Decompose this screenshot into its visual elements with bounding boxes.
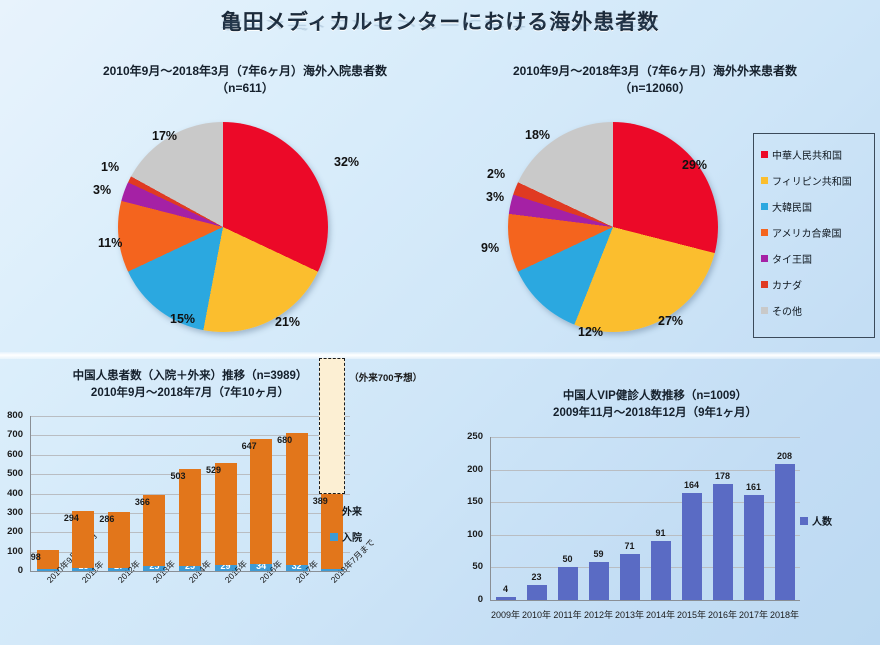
pie-slice-label-5: 1% [101,160,119,174]
pie-slice-label-2: 12% [578,325,603,339]
pie-slice-label-4: 3% [93,183,111,197]
bar-人数-2[interactable] [558,567,578,600]
bar-value-label: 366 [116,497,168,507]
bar-人数-4[interactable] [620,554,640,600]
forecast-box [319,358,345,494]
legend-item-label: タイ王国 [772,251,812,266]
y-axis-tick: 300 [0,507,23,518]
x-axis-tick-label: 2011年 [552,608,583,621]
x-axis-tick-label: 2009年 [490,608,521,621]
vip-checkup-title: 中国人VIP健診人数推移（n=1009） 2009年11月～2018年12月（9… [490,388,820,422]
legend-item-4[interactable]: タイ王国 [761,245,870,271]
bar-人数-9[interactable] [775,464,795,600]
bar-人数-8[interactable] [744,495,764,600]
bar-value-label: 680 [259,435,311,445]
y-axis-tick: 200 [455,464,483,475]
inpatient-pie-title: 2010年9月～2018年3月（7年6ヶ月）海外入院患者数 （n=611） [45,63,445,97]
legend-item-label: 中華人民共和国 [772,147,842,162]
bar-value-label: 98 [10,552,62,562]
gridline [30,416,350,417]
y-axis-tick: 50 [455,561,483,572]
bar-value-label: 208 [760,451,810,461]
bar-人数-7[interactable] [713,484,733,600]
pie-slice-label-1: 27% [658,314,683,328]
legend-swatch-icon [800,517,808,525]
y-axis-line [30,416,31,571]
bar-外来-5[interactable] [215,463,237,565]
y-axis-tick: 400 [0,488,23,499]
x-axis-line [490,600,800,601]
bar-value-label: 23 [512,572,562,582]
legend-swatch-icon [330,533,338,541]
page-title: 亀田メディカルセンターにおける海外患者数 [0,6,880,36]
series-legend-label: 人数 [812,513,832,528]
slide-root: 亀田メディカルセンターにおける海外患者数 亀田メディカルセンターにおける海外患者… [0,0,880,645]
inpatient-pie-chart [118,122,328,332]
x-axis-tick-label: 2018年 [769,608,800,621]
bar-人数-5[interactable] [651,541,671,600]
legend-item-label: フィリピン共和国 [772,173,852,188]
y-axis-tick: 200 [0,526,23,537]
legend-item-0[interactable]: 中華人民共和国 [761,141,870,167]
pie-slice-label-3: 11% [98,236,122,250]
forecast-annotation-label: （外来700予想） [349,370,422,384]
legend-swatch-icon [761,203,768,210]
legend-swatch-icon [761,151,768,158]
pie-slice-label-4: 3% [486,190,504,204]
series-legend-label: 入院 [342,529,362,544]
legend-swatch-icon [761,307,768,314]
series-legend-item-人数[interactable]: 人数 [800,513,832,528]
vip-checkup-plot: 05010015020025042009年232010年502011年59201… [455,425,880,640]
y-axis-tick: 700 [0,429,23,440]
outpatient-pie-chart [508,122,718,332]
y-axis-tick: 100 [455,529,483,540]
outpatient-pie-title: 2010年9月～2018年3月（7年6ヶ月）海外外来患者数 （n=12060） [455,63,855,97]
x-axis-line [30,571,350,572]
pie-slice-label-1: 21% [275,315,300,329]
series-legend[interactable]: 人数 [800,513,832,539]
series-legend-label: 外来 [342,503,362,518]
legend-item-5[interactable]: カナダ [761,271,870,297]
bar-人数-6[interactable] [682,493,702,600]
pie-slice-label-0: 32% [334,155,359,169]
legend-item-1[interactable]: フィリピン共和国 [761,167,870,193]
legend-swatch-icon [761,255,768,262]
x-axis-tick-label: 2013年 [614,608,645,621]
legend-item-2[interactable]: 大韓民国 [761,193,870,219]
legend-swatch-icon [761,281,768,288]
bar-value-label: 71 [605,541,655,551]
pie-slice-label-2: 15% [170,312,195,326]
x-axis-tick-label: 2010年 [521,608,552,621]
bar-人数-3[interactable] [589,562,609,600]
y-axis-line [490,437,491,600]
y-axis-tick: 0 [0,565,23,576]
chinese-patients-plot: 01002003004005006007008009982010年9月～12月1… [0,408,440,643]
legend-item-label: アメリカ合衆国 [772,225,842,240]
y-axis-tick: 800 [0,410,23,421]
pie-slice-label-5: 2% [487,167,505,181]
bar-value-label: 529 [188,465,240,475]
y-axis-tick: 0 [455,594,483,605]
y-axis-tick: 500 [0,468,23,479]
country-legend[interactable]: 中華人民共和国フィリピン共和国大韓民国アメリカ合衆国タイ王国カナダその他 [753,133,875,338]
gridline [490,437,800,438]
series-legend-item-外来[interactable]: 外来 [330,503,362,518]
series-legend[interactable]: 外来入院 [330,503,362,555]
legend-item-6[interactable]: その他 [761,297,870,323]
bar-人数-1[interactable] [527,585,547,600]
legend-item-label: 大韓民国 [772,199,812,214]
legend-swatch-icon [330,507,338,515]
bar-value-label: 4 [481,584,531,594]
bar-外来-6[interactable] [250,439,272,564]
series-legend-item-入院[interactable]: 入院 [330,529,362,544]
pie-slice-label-3: 9% [481,241,499,255]
legend-swatch-icon [761,177,768,184]
legend-item-3[interactable]: アメリカ合衆国 [761,219,870,245]
bar-value-label: 91 [636,528,686,538]
section-divider [0,352,880,359]
pie-slice-label-6: 17% [152,129,177,143]
y-axis-tick: 250 [455,431,483,442]
bar-value-label: 178 [698,471,748,481]
bar-value-label: 164 [667,480,717,490]
pie-slice-label-0: 29% [682,158,707,172]
legend-item-label: その他 [772,303,802,318]
chinese-patients-title: 中国人患者数（入院＋外来）推移（n=3989） 2010年9月～2018年7月（… [30,368,350,402]
y-axis-tick: 600 [0,449,23,460]
x-axis-tick-label: 2015年 [676,608,707,621]
x-axis-tick-label: 2016年 [707,608,738,621]
bar-value-label: 161 [729,482,779,492]
legend-item-label: カナダ [772,277,802,292]
legend-swatch-icon [761,229,768,236]
x-axis-tick-label: 2014年 [645,608,676,621]
bar-value-label: 286 [81,514,133,524]
pie-slice-label-6: 18% [525,128,550,142]
x-axis-tick-label: 2017年 [738,608,769,621]
y-axis-tick: 150 [455,496,483,507]
gridline [490,470,800,471]
bar-外来-4[interactable] [179,469,201,566]
x-axis-tick-label: 2012年 [583,608,614,621]
